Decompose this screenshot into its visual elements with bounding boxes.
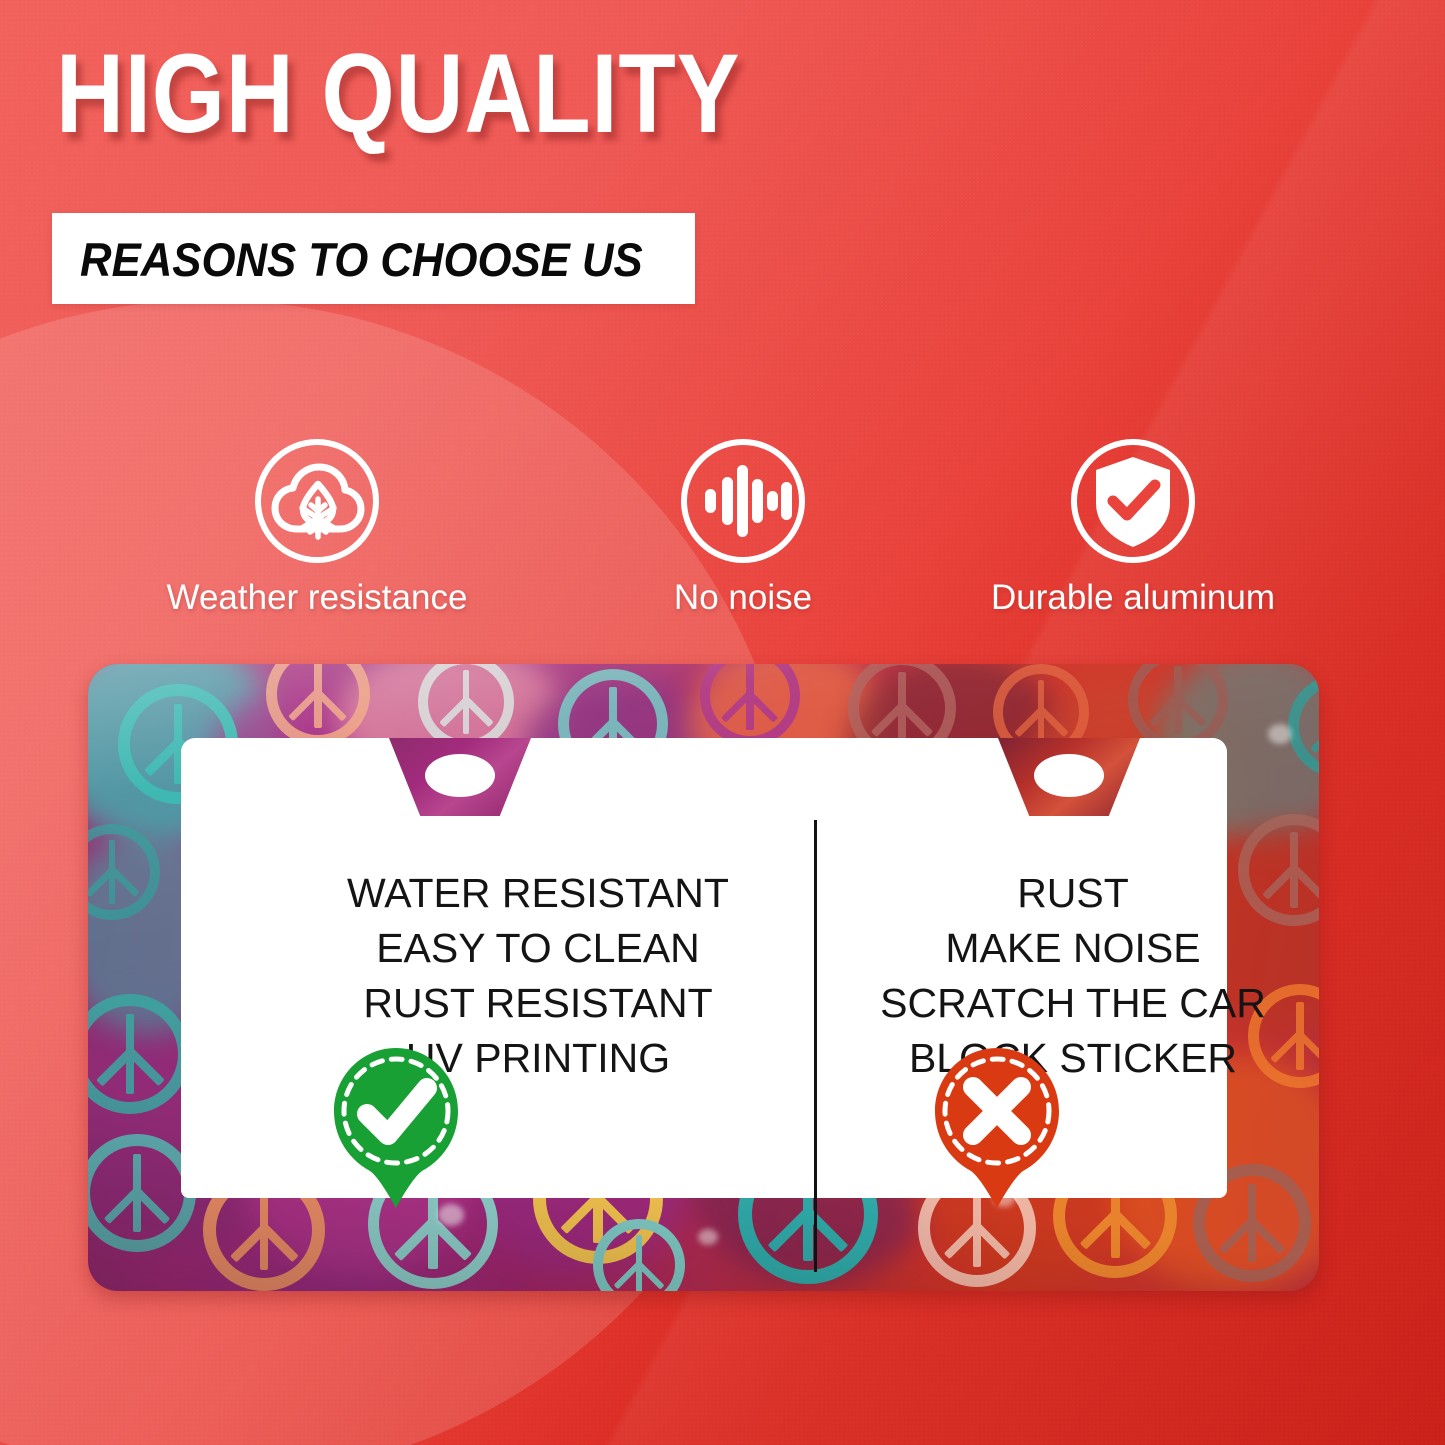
sound-wave-icon [679,437,807,565]
pros-line: WATER RESISTANT [278,866,798,921]
feature-label: Durable aluminum [965,578,1301,618]
shield-check-icon [1069,437,1197,565]
cloud-rain-snow-icon [253,437,381,565]
feature-label: No noise [612,578,874,618]
subtitle-text: REASONS TO CHOOSE US [80,232,638,287]
cons-line: MAKE NOISE [813,921,1319,976]
page-title: HIGH QUALITY [56,38,740,150]
plate-frame-body: WATER RESISTANT EASY TO CLEAN RUST RESIS… [88,664,1319,1291]
cons-line: SCRATCH THE CAR [813,976,1319,1031]
feature-durable-aluminum: Durable aluminum [965,437,1301,618]
mounting-hole-right [998,738,1140,816]
feature-weather-resistance: Weather resistance [150,437,484,618]
cons-line: RUST [813,866,1319,921]
mounting-hole-left [389,738,531,816]
pros-check-badge [320,1032,472,1210]
product-infographic: HIGH QUALITY REASONS TO CHOOSE US [0,0,1445,1445]
feature-label: Weather resistance [150,578,484,618]
cons-cross-badge [921,1032,1073,1210]
pros-line: RUST RESISTANT [278,976,798,1031]
pros-line: EASY TO CLEAN [278,921,798,976]
feature-no-noise: No noise [612,437,874,618]
feature-row: Weather resistance No noise [0,437,1445,647]
license-plate-frame: WATER RESISTANT EASY TO CLEAN RUST RESIS… [88,664,1319,1291]
